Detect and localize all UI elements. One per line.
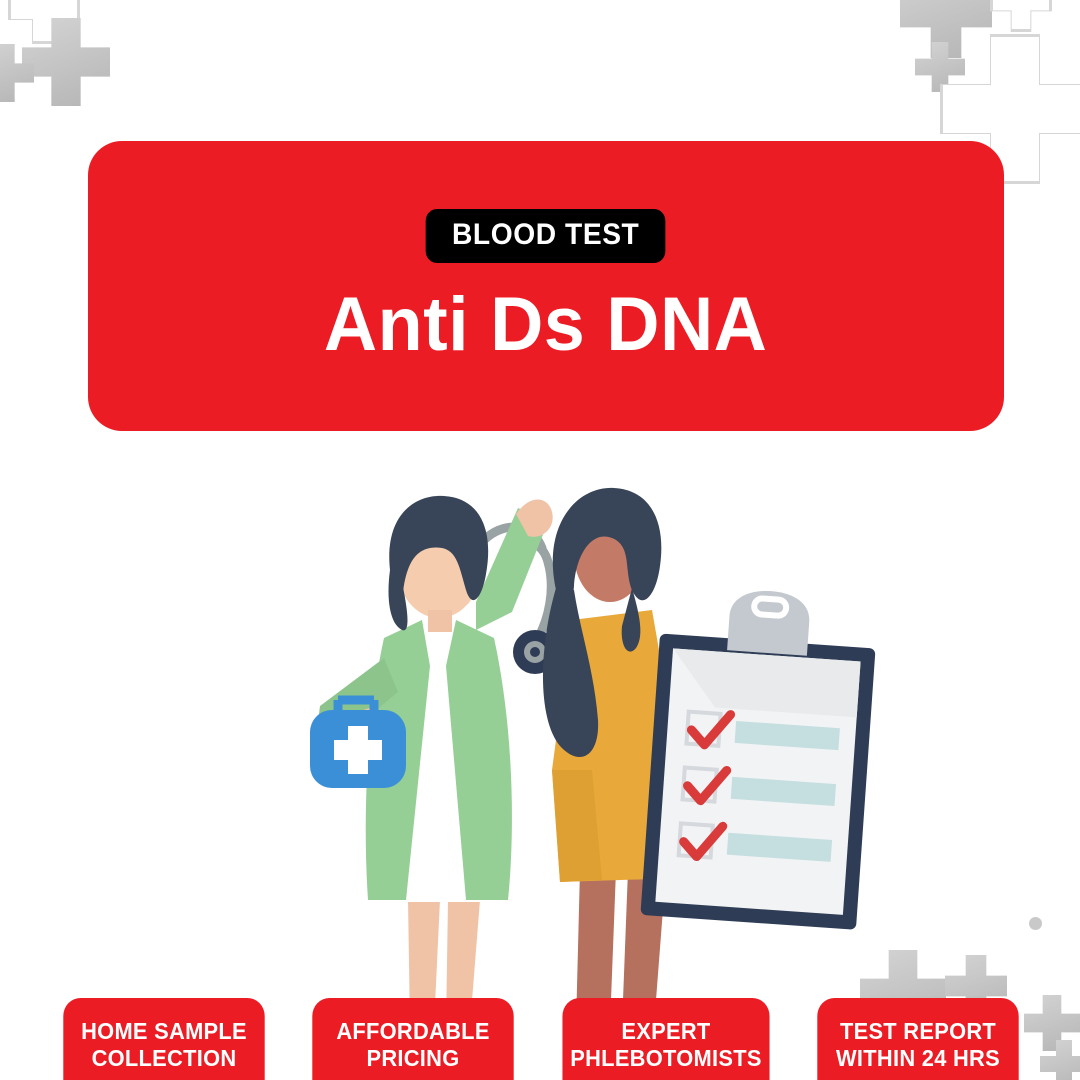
page-title: Anti Ds DNA bbox=[324, 285, 768, 365]
doctor-figure bbox=[310, 496, 557, 1026]
feature-badge-expert-phlebotomists[interactable]: EXPERT PHLEBOTOMISTS bbox=[562, 998, 769, 1080]
medical-kit bbox=[310, 700, 406, 788]
nurse-figure bbox=[543, 488, 879, 1026]
doctor-neck bbox=[428, 610, 452, 632]
feature-badge-home-sample-collection[interactable]: HOME SAMPLE COLLECTION bbox=[63, 998, 264, 1080]
feature-badge-row: HOME SAMPLE COLLECTION AFFORDABLE PRICIN… bbox=[0, 998, 1080, 1080]
blood-test-chip: BLOOD TEST bbox=[426, 209, 666, 263]
feature-line-2: COLLECTION bbox=[92, 1045, 237, 1072]
clipboard bbox=[640, 584, 879, 930]
feature-badge-affordable-pricing[interactable]: AFFORDABLE PRICING bbox=[312, 998, 513, 1080]
feature-line-2: WITHIN 24 HRS bbox=[836, 1045, 1000, 1072]
nurse-hair-long bbox=[543, 588, 598, 757]
header-banner: BLOOD TEST Anti Ds DNA bbox=[88, 141, 1004, 431]
healthcare-workers-illustration bbox=[280, 470, 900, 1030]
feature-line-1: HOME SAMPLE bbox=[81, 1018, 247, 1045]
poster-canvas: BLOOD TEST Anti Ds DNA bbox=[0, 0, 1080, 1080]
feature-badge-test-report-24hrs[interactable]: TEST REPORT WITHIN 24 HRS bbox=[817, 998, 1018, 1080]
cross-top-right-outline-small-icon bbox=[990, 0, 1052, 32]
feature-line-1: TEST REPORT bbox=[840, 1018, 996, 1045]
feature-line-1: AFFORDABLE bbox=[336, 1018, 489, 1045]
feature-line-1: EXPERT bbox=[621, 1018, 710, 1045]
feature-line-2: PHLEBOTOMISTS bbox=[570, 1045, 761, 1072]
dot-right-mid-icon bbox=[1029, 917, 1042, 930]
feature-line-2: PRICING bbox=[366, 1045, 459, 1072]
cross-left-edge-icon bbox=[0, 44, 34, 102]
cross-top-left-solid-icon bbox=[22, 18, 110, 106]
